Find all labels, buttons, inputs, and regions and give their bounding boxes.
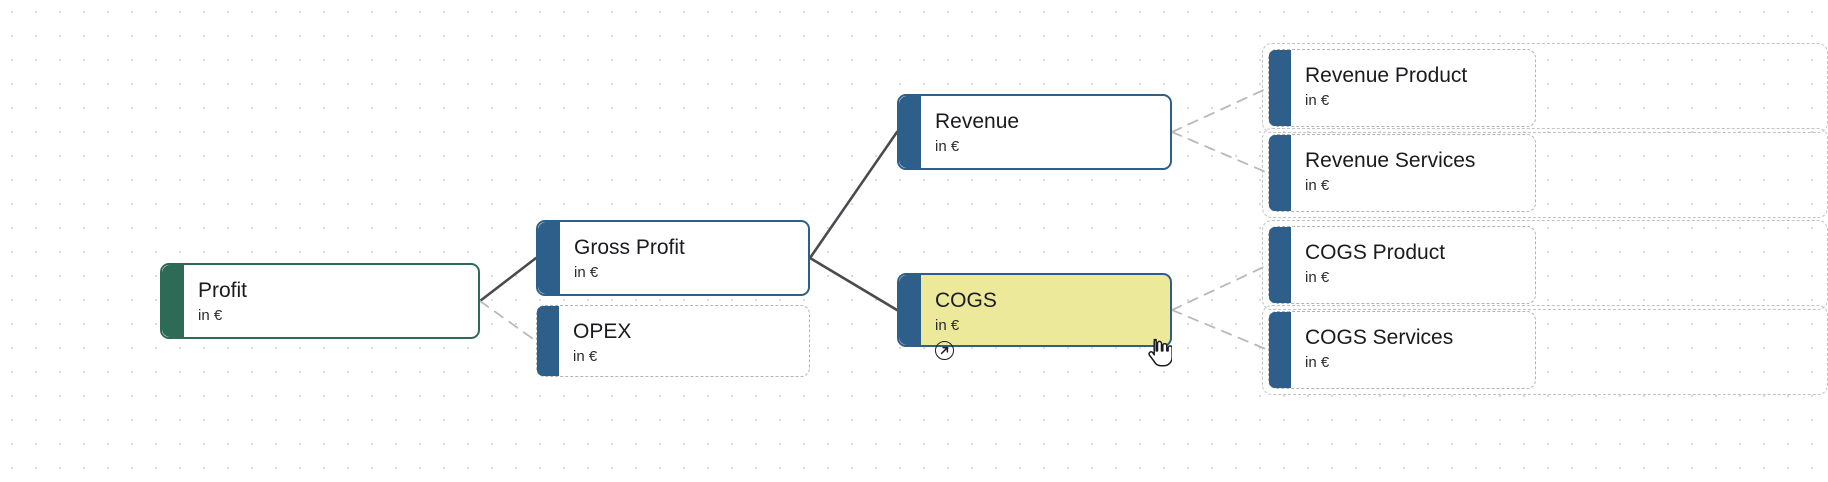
node-cogs-product[interactable]: COGS Productin € — [1268, 226, 1536, 304]
node-cogs[interactable]: COGSin € — [897, 273, 1172, 347]
node-body: OPEXin € — [559, 306, 809, 376]
node-title: Gross Profit — [574, 236, 792, 260]
node-accent-bar — [538, 222, 560, 294]
node-body: COGSin € — [921, 275, 1170, 345]
diagram-canvas[interactable]: Profitin €Gross Profitin €OPEXin €Revenu… — [0, 0, 1828, 482]
node-accent-bar — [1269, 312, 1291, 388]
node-profit[interactable]: Profitin € — [160, 263, 480, 339]
node-title: Revenue Product — [1305, 64, 1519, 88]
node-accent-bar — [1269, 135, 1291, 211]
node-accent-bar — [1269, 227, 1291, 303]
node-body: Revenue Servicesin € — [1291, 135, 1535, 211]
node-revenue-services[interactable]: Revenue Servicesin € — [1268, 134, 1536, 212]
node-gross-profit[interactable]: Gross Profitin € — [536, 220, 810, 296]
node-unit-label: in € — [573, 347, 793, 367]
node-body: COGS Productin € — [1291, 227, 1535, 303]
node-unit-label: in € — [935, 316, 1154, 336]
node-title: COGS Services — [1305, 326, 1519, 350]
node-body: Revenue Productin € — [1291, 50, 1535, 126]
node-body: Gross Profitin € — [560, 222, 808, 294]
node-accent-bar — [1269, 50, 1291, 126]
node-title: COGS — [935, 289, 1154, 313]
edge-gross-profit-to-cogs[interactable] — [810, 258, 897, 310]
node-title: Revenue — [935, 110, 1154, 134]
open-in-new-icon[interactable] — [935, 341, 954, 360]
node-revenue-product[interactable]: Revenue Productin € — [1268, 49, 1536, 127]
node-accent-bar — [537, 306, 559, 376]
edge-profit-to-gross-profit[interactable] — [480, 258, 536, 301]
node-accent-bar — [899, 96, 921, 168]
node-body: Profitin € — [184, 265, 478, 337]
edge-gross-profit-to-revenue[interactable] — [810, 132, 897, 258]
node-unit-label: in € — [574, 263, 792, 283]
node-unit-label: in € — [935, 137, 1154, 157]
node-title: COGS Product — [1305, 241, 1519, 265]
node-opex[interactable]: OPEXin € — [536, 305, 810, 377]
node-accent-bar — [899, 275, 921, 345]
node-revenue[interactable]: Revenuein € — [897, 94, 1172, 170]
node-accent-bar — [162, 265, 184, 337]
edge-revenue-to-revenue-product[interactable] — [1172, 88, 1268, 132]
node-unit-label: in € — [1305, 91, 1519, 111]
node-unit-label: in € — [1305, 353, 1519, 373]
node-title: OPEX — [573, 320, 793, 344]
node-unit-label: in € — [198, 306, 462, 326]
node-body: COGS Servicesin € — [1291, 312, 1535, 388]
node-unit-label: in € — [1305, 268, 1519, 288]
node-title: Revenue Services — [1305, 149, 1519, 173]
node-unit-label: in € — [1305, 176, 1519, 196]
node-title: Profit — [198, 279, 462, 303]
edge-profit-to-opex[interactable] — [480, 301, 536, 341]
node-body: Revenuein € — [921, 96, 1170, 168]
edge-cogs-to-cogs-services[interactable] — [1172, 310, 1268, 350]
edge-cogs-to-cogs-product[interactable] — [1172, 265, 1268, 310]
edge-revenue-to-revenue-services[interactable] — [1172, 132, 1268, 173]
node-cogs-services[interactable]: COGS Servicesin € — [1268, 311, 1536, 389]
